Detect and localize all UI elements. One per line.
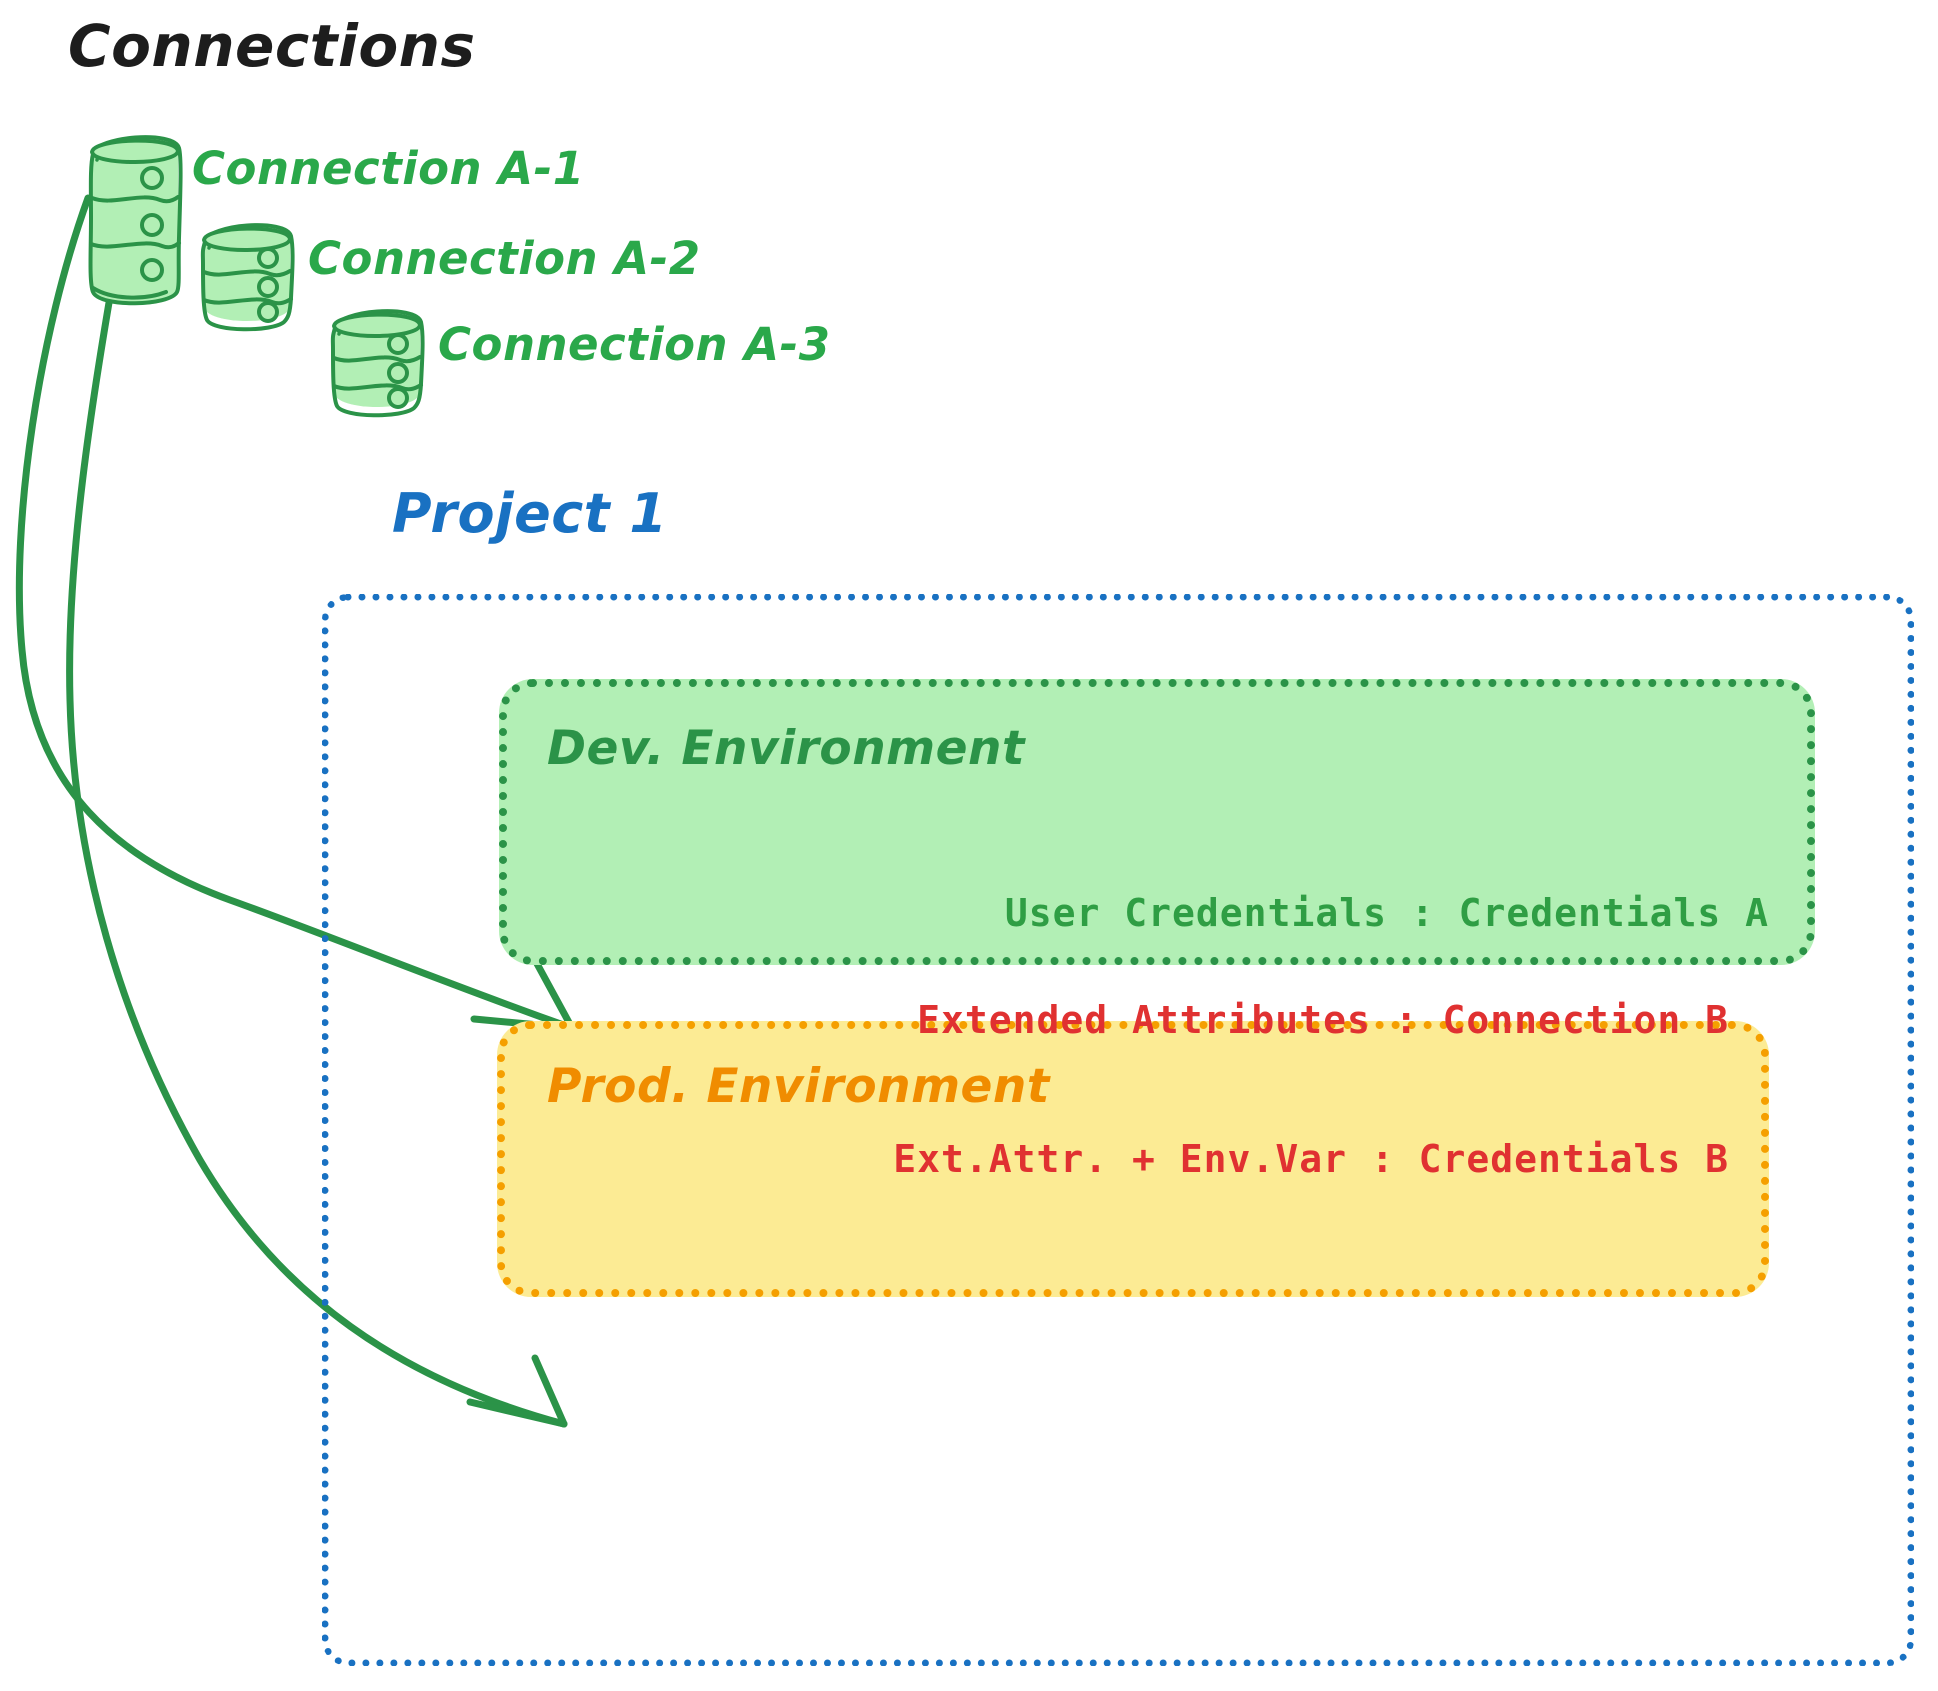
diagram-canvas: Connections Connection A-1 Connection A-… <box>0 0 1938 1691</box>
database-icon-connection-a1 <box>91 137 181 305</box>
database-icon-connection-a3 <box>333 311 423 415</box>
prod-environment-box[interactable]: Prod. Environment Extended Attributes : … <box>497 1021 1769 1297</box>
project-title: Project 1 <box>392 482 667 545</box>
connection-label-a2: Connection A-2 <box>308 232 701 285</box>
prod-environment-line-1: Extended Attributes : Connection B <box>893 997 1729 1043</box>
connection-label-a1: Connection A-1 <box>192 142 585 195</box>
page-title: Connections <box>68 12 475 80</box>
prod-environment-line-2: Ext.Attr. + Env.Var : Credentials B <box>893 1136 1729 1182</box>
prod-environment-attributes: Extended Attributes : Connection B Ext.A… <box>893 904 1729 1275</box>
database-icon-connection-a2 <box>203 225 293 329</box>
dev-environment-title: Dev. Environment <box>547 721 1025 776</box>
project-container: Dev. Environment User Credentials : Cred… <box>322 594 1914 1666</box>
connection-label-a3: Connection A-3 <box>438 318 831 371</box>
